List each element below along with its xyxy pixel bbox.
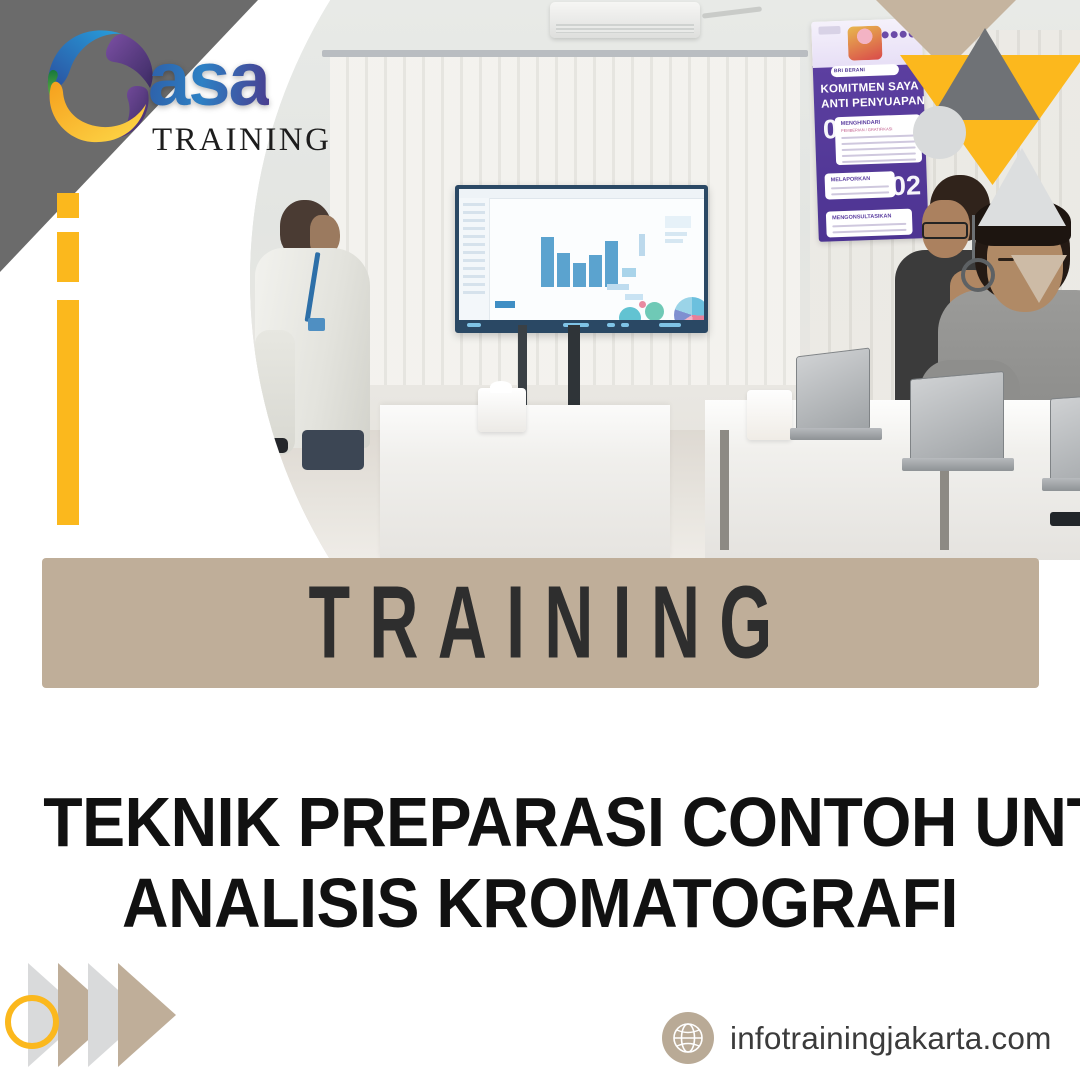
poster-item-num-2: 02 [890, 170, 921, 202]
yellow-bar-2 [57, 232, 79, 282]
gray-circle-icon [913, 106, 966, 159]
tissue-box-front [478, 388, 526, 432]
presentation-screen [455, 185, 708, 333]
poster-headline-2: ANTI PENYUAPAN [821, 95, 929, 111]
tissue-box-right [747, 390, 792, 440]
wall-poster: BRI BERANI KOMITMEN SAYA ANTI PENYUAPAN … [811, 18, 929, 242]
air-conditioner-icon [550, 2, 700, 38]
yellow-bar-1 [57, 193, 79, 218]
globe-icon [662, 1012, 714, 1064]
phone-on-table [1050, 512, 1080, 526]
blinds-rail [322, 50, 808, 57]
title-line-1: TEKNIK PREPARASI CONTOH UNTUK [43, 782, 1037, 863]
gray-ring-icon [961, 258, 995, 292]
poster-badge: BRI BERANI [834, 67, 865, 74]
poster-canvas: BRI BERANI KOMITMEN SAYA ANTI PENYUAPAN … [0, 0, 1080, 1080]
poster-item-label-2: MELAPORKAN [831, 175, 889, 183]
training-banner: TRAINING [42, 558, 1039, 688]
website-url[interactable]: infotrainingjakarta.com [730, 1020, 1052, 1057]
logo-subtitle: TRAINING [152, 122, 331, 159]
casa-training-logo[interactable]: asa TRAINING [30, 18, 360, 168]
poster-headline-1: KOMITMEN SAYA [820, 80, 928, 96]
yellow-bar-3 [57, 300, 79, 525]
title-line-2: ANALISIS KROMATOGRAFI [43, 863, 1037, 944]
logo-wordmark: asa [148, 42, 269, 118]
page-title: TEKNIK PREPARASI CONTOH UNTUK ANALISIS K… [0, 782, 1080, 944]
hanging-line [972, 215, 975, 260]
banner-label: TRAINING [289, 571, 791, 674]
poster-item-label-3: MENGONSULTASIKAN [832, 213, 906, 222]
yellow-circle-outline-icon [5, 995, 59, 1049]
chevron-icon-4 [118, 963, 176, 1067]
website-footer[interactable]: infotrainingjakarta.com [662, 1012, 1052, 1064]
